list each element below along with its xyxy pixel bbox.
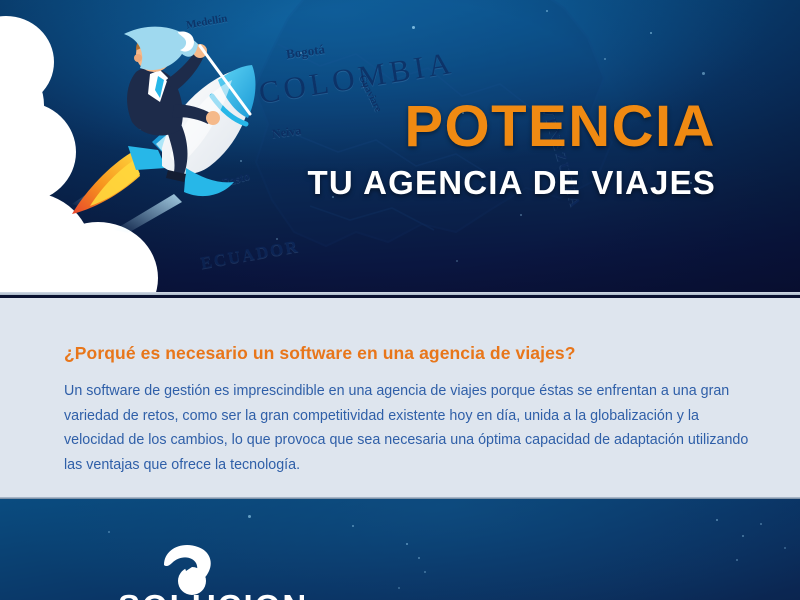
footer-section: [0, 497, 800, 600]
hero-title-block: POTENCIA TU AGENCIA DE VIAJES: [308, 98, 716, 201]
section-body-text: Un software de gestión es imprescindible…: [64, 379, 754, 477]
section-heading: ¿Porqué es necesario un software en una …: [64, 343, 576, 364]
hero-bottom-edge: [0, 292, 800, 295]
footer-wordmark: SOLUCION: [118, 588, 308, 600]
hero-title-secondary: TU AGENCIA DE VIAJES: [308, 165, 716, 201]
page-root: Medellín Bogotá COLOMBIA Guaviare Neiva …: [0, 0, 800, 600]
hero-banner: Medellín Bogotá COLOMBIA Guaviare Neiva …: [0, 0, 800, 295]
content-section: ¿Porqué es necesario un software en una …: [0, 298, 800, 497]
rocket-illustration: [62, 18, 272, 233]
footer-stars: [0, 497, 800, 600]
hero-title-primary: POTENCIA: [308, 98, 716, 156]
